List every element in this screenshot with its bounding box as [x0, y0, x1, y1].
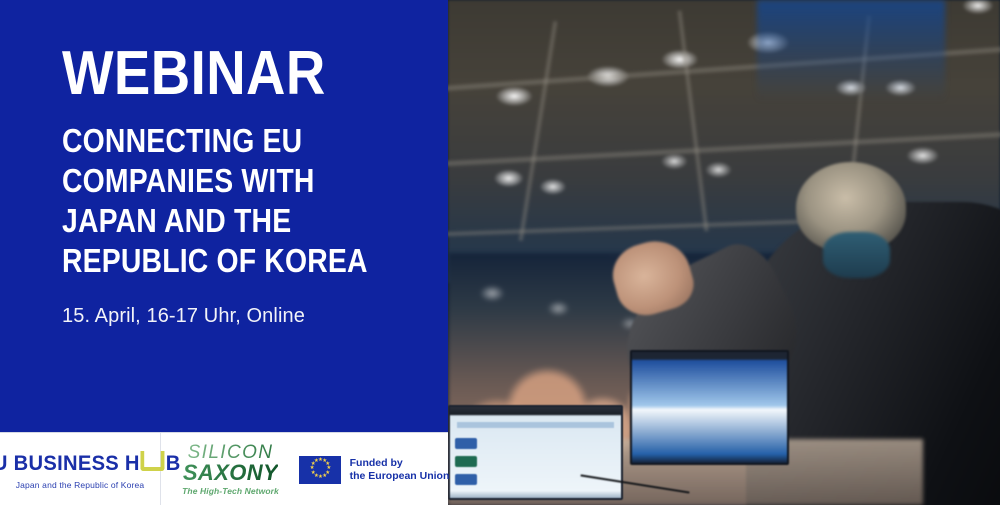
subtitle-block: CONNECTING EU COMPANIES WITH JAPAN AND T…	[62, 104, 373, 281]
eu-funding-text: Funded by the European Union	[350, 457, 450, 482]
logo-eu-business-hub: EU BUSINESS H B Japan and the Republic o…	[0, 433, 161, 505]
logo-footer: EU BUSINESS H B Japan and the Republic o…	[0, 432, 448, 505]
event-datetime: 15. April, 16-17 Uhr, Online	[62, 281, 424, 328]
eu-funding-line-1: Funded by	[350, 457, 450, 470]
saxony-line-1: SILICON	[188, 444, 274, 462]
presentation-monitor	[630, 350, 789, 465]
blue-text-panel: WEBINAR CONNECTING EU COMPANIES WITH JAP…	[0, 0, 448, 432]
page-title: WEBINAR	[62, 44, 381, 104]
logo-funded-by-eu: Funded by the European Union	[300, 433, 448, 505]
subtitle-line-2: COMPANIES WITH	[62, 161, 373, 201]
laptop-toolbar	[457, 422, 614, 428]
hub-word-before: EU BUSINESS H	[0, 452, 140, 476]
speaker-lanyard	[823, 232, 889, 277]
conference-photo	[448, 0, 1000, 505]
laptop-screen	[448, 405, 623, 500]
eu-logo-row: Funded by the European Union	[299, 456, 450, 484]
subtitle-line-4: REPUBLIC OF KOREA	[62, 241, 373, 281]
laptop-thumb	[455, 456, 477, 467]
eu-funding-line-2: the European Union	[350, 470, 450, 483]
eu-star-icon	[310, 467, 313, 470]
hub-tagline: Japan and the Republic of Korea	[16, 480, 144, 490]
eu-flag-icon	[299, 456, 341, 484]
subtitle-line-3: JAPAN AND THE	[62, 201, 373, 241]
saxony-line-2: SAXONY	[183, 462, 278, 484]
subtitle-line-1: CONNECTING EU	[62, 121, 373, 161]
hub-wordmark: EU BUSINESS H B	[0, 450, 181, 476]
eu-star-icon	[311, 472, 314, 475]
laptop-thumb	[455, 474, 477, 485]
logo-silicon-saxony: SILICON SAXONY The High-Tech Network	[161, 433, 300, 505]
webinar-banner: WEBINAR CONNECTING EU COMPANIES WITH JAP…	[0, 0, 1000, 505]
stage-screen-glow	[757, 0, 945, 101]
saxony-tagline: The High-Tech Network	[182, 486, 279, 496]
eu-star-icon	[314, 460, 317, 463]
laptop-thumb	[455, 438, 477, 449]
